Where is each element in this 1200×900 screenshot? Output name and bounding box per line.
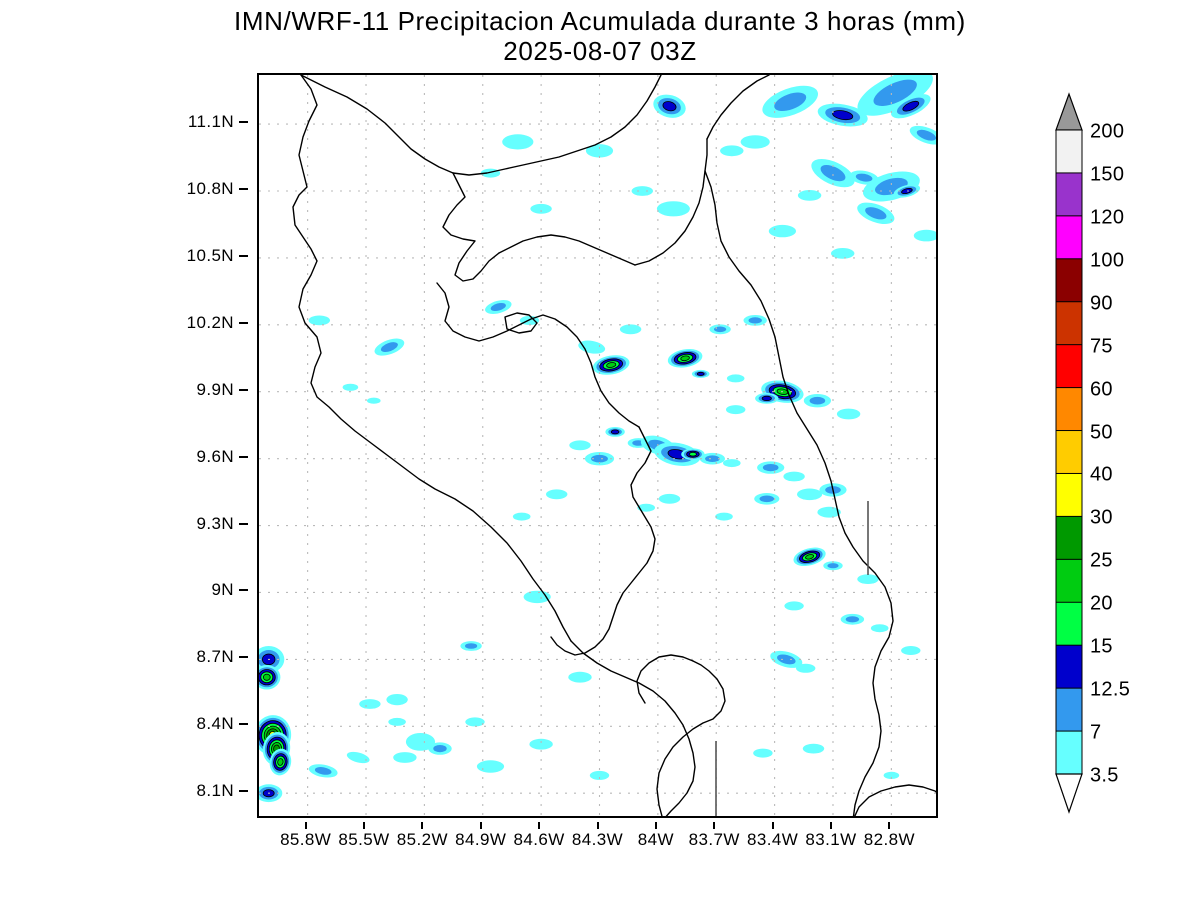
colorbar-tick-label: 120 <box>1090 206 1124 229</box>
chart-subtitle: 2025-08-07 03Z <box>0 36 1200 66</box>
precipitation-cell <box>744 315 767 326</box>
precip-contour-band <box>697 372 704 375</box>
precip-contour-band <box>914 230 938 242</box>
precipitation-cell <box>709 324 730 334</box>
precip-contour-band <box>388 718 406 726</box>
precip-contour-band <box>343 384 359 391</box>
lon-tick-mark <box>888 822 890 829</box>
precip-contour-band <box>810 397 826 405</box>
precip-contour-band <box>720 145 743 156</box>
precipitation-cell <box>460 641 481 651</box>
precip-contour-band <box>569 440 590 450</box>
precipitation-cell <box>753 749 772 758</box>
precip-contour-band <box>831 248 854 259</box>
lon-tick-label: 84.3W <box>572 830 623 850</box>
precipitation-cell <box>428 742 451 754</box>
lat-tick-label: 9.9N <box>196 380 234 400</box>
colorbar-tick-label: 12.5 <box>1090 679 1130 702</box>
colorbar-tick-label: 7 <box>1090 722 1101 745</box>
lon-tick-label: 85.5W <box>338 830 389 850</box>
precipitation-cell <box>502 134 533 149</box>
colorbar-tick-label: 150 <box>1090 163 1124 186</box>
precip-contour-band <box>632 186 653 196</box>
precipitation-cell <box>651 91 689 121</box>
map-plot-area <box>257 73 938 818</box>
precip-contour-band <box>502 134 533 149</box>
precipitation-cell <box>727 374 745 382</box>
precip-contour-band <box>346 750 371 766</box>
precipitation-cell <box>741 135 770 148</box>
precipitation-cell <box>907 122 938 148</box>
precip-contour-band <box>568 672 591 683</box>
precipitation-cell <box>754 493 779 505</box>
precip-contour-band <box>530 204 551 214</box>
precipitation-cell <box>871 624 889 632</box>
plot-frame <box>257 73 938 818</box>
colorbar-tick-label: 200 <box>1090 121 1124 144</box>
precipitation-cell <box>757 461 784 473</box>
precipitation-cell <box>723 459 741 467</box>
precip-contour-band <box>803 744 824 754</box>
colorbar-band <box>1056 302 1082 345</box>
precipitation-cell <box>803 744 824 754</box>
precipitation-cell <box>726 405 745 414</box>
precip-contour-band <box>513 513 531 521</box>
colorbar-band <box>1056 516 1082 559</box>
precipitation-cell <box>914 230 938 242</box>
precip-contour-band <box>477 760 504 772</box>
precipitation-cell <box>901 646 920 655</box>
precipitation-cell <box>797 489 822 501</box>
colorbar-tick-label: 90 <box>1090 292 1113 315</box>
precip-contour-band <box>723 459 741 467</box>
precip-contour-band <box>760 496 775 503</box>
precipitation-map <box>259 75 938 818</box>
precipitation-cell <box>804 394 831 407</box>
lat-tick-label: 11.1N <box>188 112 234 132</box>
chart-title-block: IMN/WRF-11 Precipitacion Acumulada duran… <box>0 6 1200 66</box>
colorbar-band <box>1056 173 1082 216</box>
lat-tick-label: 8.4N <box>196 714 234 734</box>
precipitation-cell <box>591 353 631 378</box>
precipitation-cell <box>372 335 406 359</box>
lon-tick-label: 84W <box>638 830 674 850</box>
lon-tick-label: 84.9W <box>455 830 506 850</box>
precipitation-cell <box>477 760 504 772</box>
colorbar-band <box>1056 345 1082 388</box>
precip-contour-band <box>798 190 821 201</box>
colorbar-band <box>1056 473 1082 516</box>
precipitation-cell <box>308 762 339 779</box>
lat-tick-label: 8.7N <box>196 647 234 667</box>
precip-contour-band <box>689 452 696 456</box>
latitude-axis-labels: 11.1N10.8N10.5N10.2N9.9N9.6N9.3N9N8.7N8.… <box>170 73 248 818</box>
precipitation-map-page: IMN/WRF-11 Precipitacion Acumulada duran… <box>0 0 1200 900</box>
lat-tick-mark <box>239 456 248 458</box>
precipitation-cell <box>343 384 359 391</box>
precipitation-cell <box>605 427 624 437</box>
lat-tick-mark <box>239 255 248 257</box>
precipitation-cell <box>513 513 531 521</box>
colorbar-band <box>1056 602 1082 645</box>
precipitation-cell <box>659 494 680 504</box>
colorbar-tick-label: 3.5 <box>1090 765 1119 788</box>
precipitation-contours <box>259 75 938 802</box>
precipitation-cell <box>798 190 821 201</box>
lon-tick-mark <box>538 822 540 829</box>
colorbar-band <box>1056 388 1082 431</box>
lon-tick-mark <box>655 822 657 829</box>
longitude-axis-labels: 85.8W85.5W85.2W84.9W84.6W84.3W84W83.7W83… <box>257 822 938 848</box>
lon-tick-label: 83.7W <box>689 830 740 850</box>
lat-tick-label: 9.3N <box>196 514 234 534</box>
precip-contour-band <box>796 664 815 673</box>
precip-contour-band <box>762 396 771 400</box>
precip-contour-band <box>465 643 477 649</box>
precip-contour-band <box>546 489 567 499</box>
lon-tick-mark <box>597 822 599 829</box>
precipitation-cell <box>657 201 690 216</box>
lat-tick-label: 10.8N <box>187 179 234 199</box>
precip-contour-band <box>837 409 860 420</box>
precip-contour-band <box>769 225 796 237</box>
colorbar-band <box>1056 559 1082 602</box>
precip-contour-band <box>846 616 859 622</box>
precip-contour-band <box>465 717 484 726</box>
precipitation-cell <box>346 750 371 766</box>
lat-tick-mark <box>239 790 248 792</box>
colorbar-band <box>1056 130 1082 173</box>
lat-tick-label: 8.1N <box>196 781 234 801</box>
lat-tick-label: 9.6N <box>196 447 234 467</box>
precip-contour-band <box>901 646 920 655</box>
precipitation-cell <box>465 717 484 726</box>
precipitation-cell <box>791 544 827 569</box>
lon-tick-label: 84.6W <box>514 830 565 850</box>
lat-tick-label: 10.5N <box>187 246 234 266</box>
precipitation-cell <box>769 225 796 237</box>
lat-tick-mark <box>239 322 248 324</box>
lat-tick-label: 10.2N <box>187 313 234 333</box>
lon-tick-mark <box>830 822 832 829</box>
colorbar: 3.5712.5152025304050607590100120150200 <box>1050 90 1198 820</box>
precipitation-cell <box>831 248 854 259</box>
lat-tick-mark <box>239 188 248 190</box>
colorbar-tick-label: 15 <box>1090 636 1113 659</box>
lat-tick-mark <box>239 656 248 658</box>
colorbar-tick-label: 25 <box>1090 550 1113 573</box>
colorbar-tick-label: 75 <box>1090 335 1113 358</box>
lon-tick-label: 82.8W <box>864 830 915 850</box>
precip-contour-band <box>659 494 680 504</box>
colorbar-band <box>1056 431 1082 474</box>
precipitation-cell <box>546 489 567 499</box>
precip-contour-band <box>620 324 641 334</box>
precipitation-cell <box>857 574 878 584</box>
colorbar-tick-label: 20 <box>1090 593 1113 616</box>
precip-contour-band <box>827 563 838 568</box>
precipitation-cell <box>530 204 551 214</box>
precip-contour-band <box>577 339 606 356</box>
precip-contour-band <box>393 752 416 763</box>
lat-tick-label: 9N <box>211 580 234 600</box>
lon-tick-mark <box>772 822 774 829</box>
precip-contour-band <box>871 624 889 632</box>
precipitation-cell <box>529 739 552 750</box>
lon-tick-label: 85.2W <box>397 830 448 850</box>
precip-contour-band <box>753 749 772 758</box>
lon-tick-label: 83.4W <box>747 830 798 850</box>
precipitation-cell <box>393 752 416 763</box>
lon-tick-mark <box>363 822 365 829</box>
precip-contour-band <box>386 694 407 705</box>
precip-contour-band <box>433 745 446 752</box>
precipitation-cell <box>632 186 653 196</box>
precipitation-cell <box>386 694 407 705</box>
precipitation-cell <box>359 699 380 709</box>
precipitation-cell <box>309 316 330 326</box>
precipitation-cell <box>577 339 606 356</box>
precip-contour-band <box>359 699 380 709</box>
colorbar-tick-label: 50 <box>1090 421 1113 444</box>
precipitation-cell <box>666 346 704 370</box>
precip-contour-band <box>367 398 381 404</box>
precip-contour-band <box>726 405 745 414</box>
colorbar-swatches <box>1050 90 1090 820</box>
colorbar-band <box>1056 688 1082 731</box>
precip-contour-band <box>705 455 720 462</box>
lon-tick-mark <box>305 822 307 829</box>
precip-contour-band <box>715 513 733 521</box>
precipitation-cell <box>484 297 513 316</box>
colorbar-band <box>1056 259 1082 302</box>
lon-tick-label: 85.8W <box>280 830 331 850</box>
colorbar-tick-label: 60 <box>1090 378 1113 401</box>
colorbar-over-arrow <box>1056 94 1082 130</box>
lat-tick-mark <box>239 389 248 391</box>
precipitation-cell <box>841 614 864 625</box>
precip-contour-band <box>657 201 690 216</box>
precipitation-cell <box>720 145 743 156</box>
precip-contour-band <box>741 135 770 148</box>
lat-tick-mark <box>239 723 248 725</box>
precip-contour-band <box>749 317 762 323</box>
colorbar-band <box>1056 645 1082 688</box>
colorbar-tick-labels: 3.5712.5152025304050607590100120150200 <box>1090 90 1198 820</box>
colorbar-band <box>1056 216 1082 259</box>
lon-tick-mark <box>480 822 482 829</box>
precipitation-cell <box>783 472 804 482</box>
precipitation-cell <box>692 370 710 378</box>
precip-contour-band <box>309 316 330 326</box>
precip-contour-band <box>611 430 619 434</box>
precip-contour-band <box>784 601 803 610</box>
colorbar-tick-label: 30 <box>1090 507 1113 530</box>
precipitation-cell <box>854 198 897 228</box>
precipitation-cell <box>568 672 591 683</box>
precip-contour-band <box>727 374 745 382</box>
precipitation-cell <box>367 398 381 404</box>
colorbar-band <box>1056 731 1082 774</box>
precip-contour-band <box>263 674 270 680</box>
precipitation-cell <box>796 664 815 673</box>
precip-contour-band <box>783 472 804 482</box>
precip-contour-band <box>529 739 552 750</box>
colorbar-tick-label: 100 <box>1090 249 1124 272</box>
precipitation-cell <box>620 324 641 334</box>
precipitation-cell <box>837 409 860 420</box>
precipitation-cell <box>715 513 733 521</box>
precipitation-cell <box>755 393 778 404</box>
precip-contour-band <box>797 489 822 501</box>
precipitation-cell <box>784 601 803 610</box>
precip-contour-band <box>857 574 878 584</box>
lat-tick-mark <box>239 589 248 591</box>
colorbar-tick-label: 40 <box>1090 464 1113 487</box>
precipitation-cell <box>700 453 725 465</box>
lat-tick-mark <box>239 523 248 525</box>
precipitation-cell <box>388 718 406 726</box>
lon-tick-mark <box>421 822 423 829</box>
chart-title: IMN/WRF-11 Precipitacion Acumulada duran… <box>0 6 1200 36</box>
colorbar-under-arrow <box>1056 774 1082 812</box>
precipitation-cell <box>758 79 822 124</box>
lon-tick-label: 83.1W <box>805 830 856 850</box>
lon-tick-mark <box>713 822 715 829</box>
lat-tick-mark <box>239 121 248 123</box>
precipitation-cell <box>569 440 590 450</box>
precip-contour-band <box>763 464 779 471</box>
